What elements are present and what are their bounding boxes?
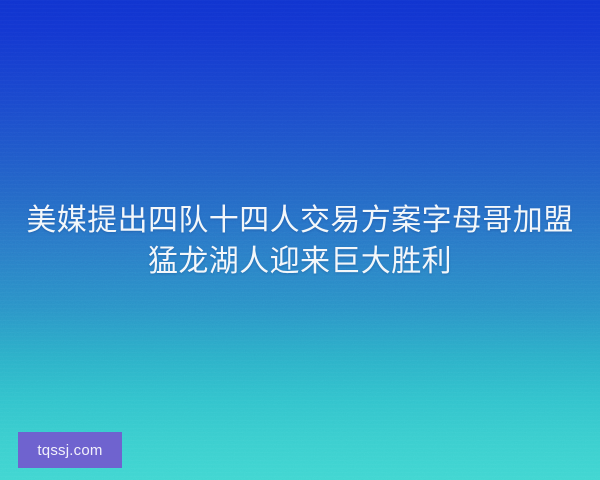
watermark-badge: tqssj.com [18,432,122,468]
headline-line-2: 猛龙湖人迎来巨大胜利 [20,241,580,282]
news-title-card: 美媒提出四队十四人交易方案字母哥加盟 猛龙湖人迎来巨大胜利 tqssj.com [0,0,600,480]
headline: 美媒提出四队十四人交易方案字母哥加盟 猛龙湖人迎来巨大胜利 [0,200,600,282]
headline-line-1: 美媒提出四队十四人交易方案字母哥加盟 [20,200,580,241]
watermark-label: tqssj.com [37,443,102,458]
